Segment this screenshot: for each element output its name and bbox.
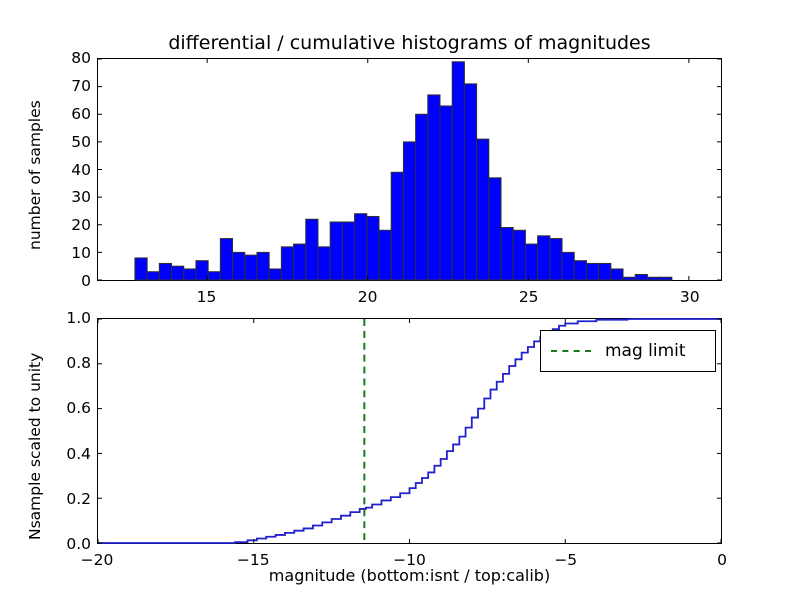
bottom-plot-ytick-label: 0.8: [41, 354, 91, 372]
bottom-plot-xtick-label: −5: [554, 551, 577, 569]
histogram-bar: [525, 244, 537, 280]
histogram-bar: [245, 255, 257, 280]
histogram-bar: [477, 139, 489, 280]
top-plot-ytick-label: 70: [41, 77, 91, 95]
histogram-bar: [208, 272, 220, 280]
top-plot-ytick-label: 10: [41, 244, 91, 262]
top-plot-xtick-label: 15: [197, 288, 217, 306]
histogram-bar: [611, 269, 623, 280]
legend-label-mag-limit: mag limit: [605, 341, 686, 361]
histogram-bar: [538, 236, 550, 280]
histogram-bar: [330, 222, 342, 280]
histogram-bar: [379, 230, 391, 280]
histogram-bar: [550, 239, 562, 280]
histogram-bar: [513, 230, 525, 280]
histogram-bar: [281, 247, 293, 280]
top-plot-ytick-label: 80: [41, 49, 91, 67]
top-plot-ytick-label: 60: [41, 105, 91, 123]
histogram-bar: [355, 214, 367, 280]
histogram-bar: [172, 266, 184, 280]
histogram-bar: [403, 142, 415, 280]
histogram-bar: [489, 178, 501, 280]
histogram-bar: [647, 277, 659, 280]
histogram-bar: [635, 274, 647, 280]
histogram-bar: [294, 244, 306, 280]
top-plot-ytick-label: 0: [41, 272, 91, 290]
histogram-bar: [306, 219, 318, 280]
differential-histogram-axes: [97, 58, 722, 281]
chart-title: differential / cumulative histograms of …: [97, 32, 722, 54]
top-plot-xtick-label: 25: [519, 288, 539, 306]
mag-limit-line-icon: [551, 350, 591, 352]
top-plot-xtick-label: 20: [358, 288, 378, 306]
histogram-bar: [196, 261, 208, 280]
histogram-bar: [660, 277, 672, 280]
histogram-bar: [440, 106, 452, 280]
bottom-plot-ytick-label: 0.2: [41, 490, 91, 508]
top-plot-ytick-label: 30: [41, 188, 91, 206]
top-plot-xtick-label: 30: [680, 288, 700, 306]
differential-histogram-plot: [98, 59, 721, 280]
histogram-bar: [184, 269, 196, 280]
histogram-bar: [342, 222, 354, 280]
histogram-bar: [269, 269, 281, 280]
bottom-plot-ytick-label: 0.6: [41, 399, 91, 417]
bottom-plot-xtick-label: −10: [393, 551, 426, 569]
histogram-bar: [464, 84, 476, 280]
histogram-bar: [416, 114, 428, 280]
histogram-bar: [623, 277, 635, 280]
bottom-plot-xtick-label: −20: [81, 551, 114, 569]
histogram-bar: [220, 239, 232, 280]
bottom-plot-xtick-label: −15: [237, 551, 270, 569]
histogram-bar: [257, 252, 269, 280]
histogram-bar: [233, 252, 245, 280]
top-plot-ytick-label: 40: [41, 161, 91, 179]
bottom-plot-xtick-label: 0: [717, 551, 727, 569]
histogram-bar: [599, 263, 611, 280]
histogram-bar: [135, 258, 147, 280]
figure-canvas: differential / cumulative histograms of …: [0, 0, 800, 600]
histogram-bar: [159, 263, 171, 280]
legend: mag limit: [540, 330, 716, 372]
histogram-bar: [452, 62, 464, 280]
top-plot-ytick-label: 50: [41, 133, 91, 151]
histogram-bar: [586, 263, 598, 280]
bottom-plot-ytick-label: 1.0: [41, 309, 91, 327]
histogram-bar: [574, 261, 586, 280]
histogram-bar: [318, 247, 330, 280]
histogram-bar: [147, 272, 159, 280]
histogram-bar: [428, 95, 440, 280]
histogram-bar: [562, 252, 574, 280]
histogram-bar: [367, 216, 379, 280]
histogram-bar: [501, 228, 513, 280]
histogram-bar: [391, 172, 403, 280]
bottom-plot-ytick-label: 0.4: [41, 445, 91, 463]
top-plot-ytick-label: 20: [41, 216, 91, 234]
